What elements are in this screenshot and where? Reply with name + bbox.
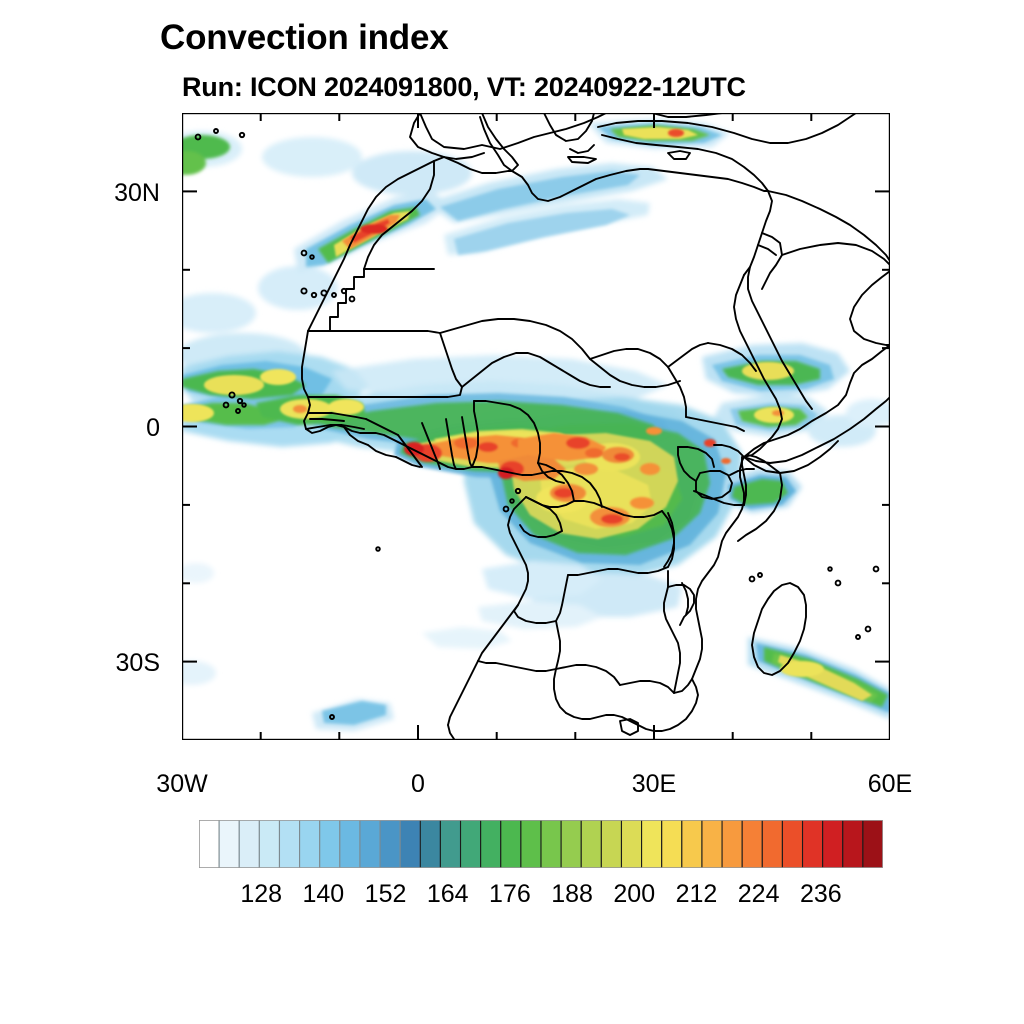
y-tick-label-30s: 30S <box>80 649 160 678</box>
colorbar-cell <box>320 820 340 868</box>
figure-subtitle: Run: ICON 2024091800, VT: 20240922-12UTC <box>182 72 746 103</box>
y-tick-label-30n: 30N <box>80 179 160 208</box>
colorbar-cell <box>279 820 299 868</box>
colorbar-cell <box>823 820 843 868</box>
colorbar-cell <box>581 820 601 868</box>
colorbar-cell <box>199 820 219 868</box>
colorbar-cell <box>803 820 823 868</box>
colorbar-svg <box>199 820 883 868</box>
colorbar-cell <box>300 820 320 868</box>
map-svg <box>182 113 890 740</box>
x-tick-label-30w: 30W <box>132 770 232 799</box>
colorbar-cell <box>682 820 702 868</box>
colorbar-cell <box>420 820 440 868</box>
colorbar <box>199 820 883 868</box>
colorbar-cell <box>521 820 541 868</box>
figure-title: Convection index <box>160 18 449 58</box>
colorbar-cell <box>501 820 521 868</box>
colorbar-cell <box>662 820 682 868</box>
colorbar-cell <box>782 820 802 868</box>
figure-canvas: Convection index Run: ICON 2024091800, V… <box>0 0 1024 1024</box>
colorbar-cell <box>440 820 460 868</box>
colorbar-cell <box>340 820 360 868</box>
colorbar-cell <box>461 820 481 868</box>
colorbar-cell <box>259 820 279 868</box>
colorbar-cell <box>481 820 501 868</box>
colorbar-cell <box>742 820 762 868</box>
colorbar-cell <box>400 820 420 868</box>
x-tick-label-60e: 60E <box>840 770 940 799</box>
colorbar-cell <box>380 820 400 868</box>
colorbar-cell <box>360 820 380 868</box>
x-tick-label-30e: 30E <box>604 770 704 799</box>
colorbar-cell <box>541 820 561 868</box>
colorbar-cell <box>702 820 722 868</box>
colorbar-cell <box>621 820 641 868</box>
map-plot-area <box>182 113 890 740</box>
colorbar-cell <box>219 820 239 868</box>
colorbar-cell <box>863 820 883 868</box>
colorbar-cell <box>843 820 863 868</box>
colorbar-tick-label: 236 <box>771 880 871 909</box>
colorbar-cell <box>561 820 581 868</box>
colorbar-cell <box>642 820 662 868</box>
y-tick-label-0: 0 <box>80 414 160 443</box>
colorbar-cells <box>199 820 883 868</box>
colorbar-cell <box>722 820 742 868</box>
colorbar-cell <box>239 820 259 868</box>
colorbar-cell <box>762 820 782 868</box>
x-tick-label-0: 0 <box>368 770 468 799</box>
colorbar-cell <box>601 820 621 868</box>
